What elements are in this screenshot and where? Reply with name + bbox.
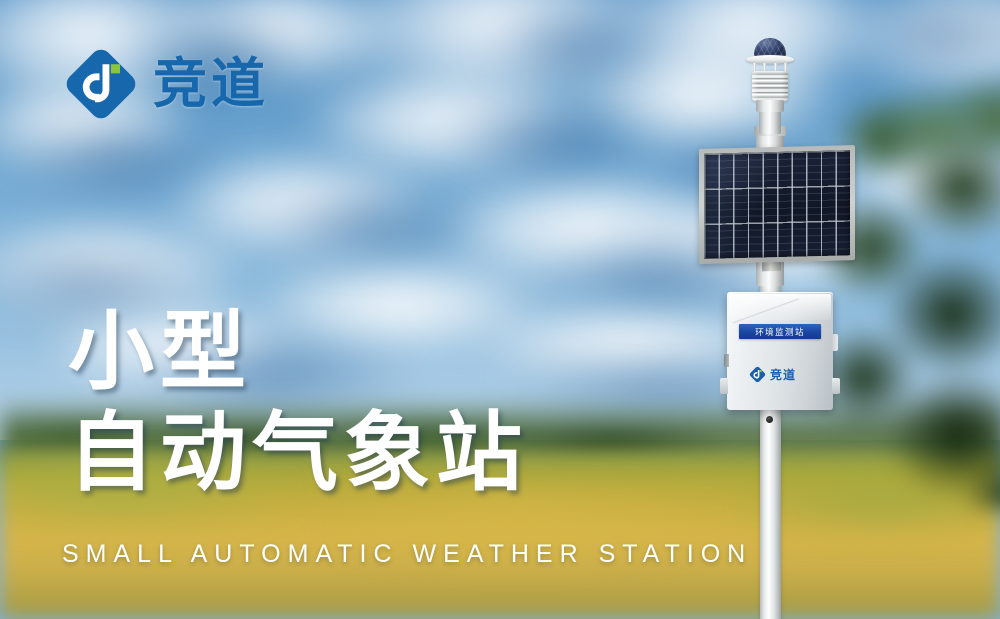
- title-line-2: 自动气象站: [68, 403, 528, 504]
- cloud-shadow: [480, 10, 670, 80]
- cloud-shadow: [250, 190, 490, 260]
- solar-cells: [704, 150, 850, 259]
- enclosure-side-vent: [832, 334, 838, 351]
- enclosure-brand-name: 竞道: [770, 366, 796, 383]
- enclosure-reflection: [733, 296, 799, 326]
- banner-canvas: 竞道 小型 自动气象站 SMALL AUTOMATIC WEATHER STAT…: [0, 0, 1000, 619]
- cloud-shadow: [430, 105, 670, 175]
- enclosure-mount-tab: [832, 378, 840, 394]
- solar-panel: [699, 145, 855, 264]
- brand-name: 竞道: [153, 57, 269, 111]
- mast-bolt-icon: [766, 416, 773, 423]
- enclosure-mount-tab: [720, 378, 728, 394]
- jingdao-diamond-logo-icon: [63, 46, 139, 122]
- jingdao-diamond-logo-icon: [749, 366, 766, 383]
- sensor-base: [756, 100, 784, 112]
- enclosure-label: 环境监测站: [739, 324, 821, 339]
- data-logger-enclosure: 环境监测站 竞道: [727, 292, 833, 410]
- weather-station-assembly: 环境监测站 竞道: [690, 30, 890, 619]
- title-line-1: 小型: [68, 302, 528, 403]
- page-subtitle: SMALL AUTOMATIC WEATHER STATION: [62, 540, 752, 569]
- radiation-shield: [752, 71, 788, 101]
- page-title: 小型 自动气象站: [68, 302, 528, 505]
- brand-logo: 竞道: [63, 46, 269, 122]
- enclosure-brand: 竞道: [749, 366, 796, 383]
- enclosure-latch: [724, 354, 729, 367]
- cloud-shadow: [0, 120, 230, 200]
- ultrasonic-weather-sensor: [742, 38, 798, 110]
